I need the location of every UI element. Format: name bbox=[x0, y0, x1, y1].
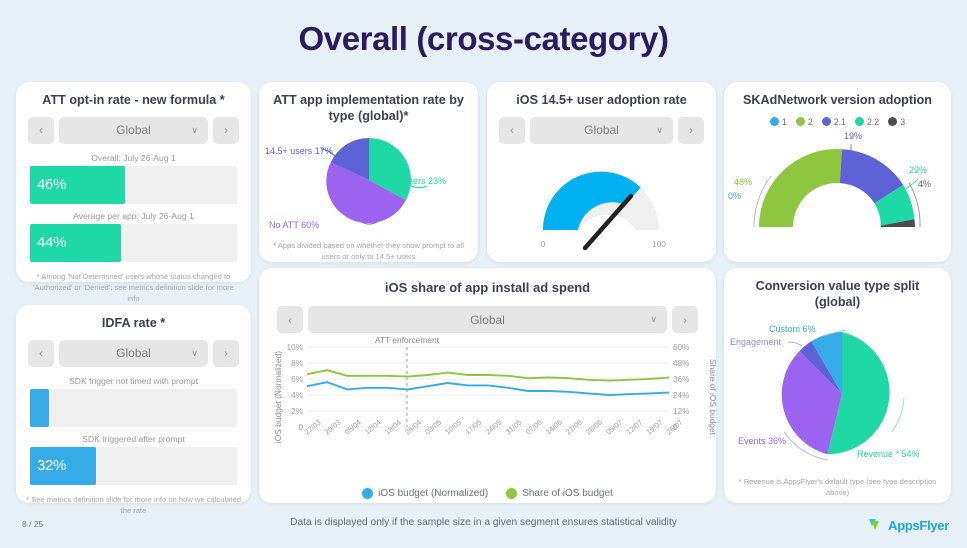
metric-bar-track bbox=[30, 389, 237, 427]
att-enforcement-annotation: ATT enforcement bbox=[375, 335, 440, 345]
segment-dropdown[interactable]: Global ∨ bbox=[59, 340, 208, 367]
segment-value: Global bbox=[116, 123, 151, 137]
segment-value: Global bbox=[116, 346, 151, 360]
svg-text:07/06: 07/06 bbox=[524, 418, 544, 437]
y-axis-label-left: iOS budget (Normalized) bbox=[273, 351, 283, 443]
svg-text:05/07: 05/07 bbox=[604, 418, 624, 437]
att-implementation-pie-chart: All users 23% No ATT 60% 14.5+ users 17% bbox=[259, 128, 478, 236]
pie-label-events: Events 36% bbox=[738, 436, 786, 446]
segment-selector[interactable]: ‹ Global ∨ › bbox=[487, 113, 716, 146]
legend-item: 1 bbox=[770, 117, 787, 127]
card-footnote: * Revenue is AppsFlyer's default type (s… bbox=[724, 474, 951, 506]
legend-label: 2.1 bbox=[834, 117, 846, 127]
metric-bar-fill: 32% bbox=[30, 447, 96, 485]
skadnetwork-legend: 1 2 2.1 2.2 3 bbox=[724, 113, 951, 127]
legend-label: Share of iOS budget bbox=[522, 488, 613, 499]
legend-label: 2.2 bbox=[867, 117, 879, 127]
legend-item: 2.1 bbox=[822, 117, 846, 127]
metric-bar-fill: 44% bbox=[30, 224, 121, 262]
legend-dot-icon bbox=[888, 117, 897, 126]
chevron-down-icon: ∨ bbox=[650, 314, 657, 325]
svg-text:4%: 4% bbox=[291, 391, 303, 400]
chevron-down-icon: ∨ bbox=[191, 125, 198, 136]
donut-label-v3: 4% bbox=[918, 179, 931, 189]
card-idfa-rate: IDFA rate * ‹ Global ∨ › SDK trigger not… bbox=[16, 305, 251, 503]
metric-bar-track: 32% bbox=[30, 447, 237, 485]
segment-selector[interactable]: ‹ Global ∨ › bbox=[16, 113, 251, 146]
metric-bar-fill: 46% bbox=[30, 166, 125, 204]
metric-bar-track: 44% bbox=[30, 224, 237, 262]
segment-selector[interactable]: ‹ Global ∨ › bbox=[16, 336, 251, 369]
card-att-opt-in-rate: ATT opt-in rate - new formula * ‹ Global… bbox=[16, 82, 251, 282]
segment-dropdown[interactable]: Global ∨ bbox=[308, 306, 667, 333]
svg-text:29/03: 29/03 bbox=[323, 418, 343, 437]
pie-label-145-users: 14.5+ users 17% bbox=[265, 146, 333, 156]
segment-value: Global bbox=[584, 123, 619, 137]
card-ios-share-ad-spend: iOS share of app install ad spend ‹ Glob… bbox=[259, 268, 716, 503]
metric-value: 32% bbox=[30, 457, 66, 474]
svg-text:8%: 8% bbox=[291, 359, 303, 368]
card-ios-adoption-rate: iOS 14.5+ user adoption rate ‹ Global ∨ … bbox=[487, 82, 716, 262]
appsflyer-mark-icon bbox=[867, 516, 885, 534]
legend-item: 3 bbox=[888, 117, 905, 127]
card-conversion-value-split: Conversion value type split (global) Cus… bbox=[724, 268, 951, 503]
svg-text:12%: 12% bbox=[673, 407, 689, 416]
line-chart-svg: 10% 8% 6% 4% 2% 0 60% 48% 36% 24% 12% 0 … bbox=[259, 335, 716, 485]
ad-spend-legend: iOS budget (Normalized) Share of iOS bud… bbox=[259, 484, 716, 499]
footer: 8 / 25 Data is displayed only if the sam… bbox=[0, 506, 967, 548]
svg-text:36%: 36% bbox=[673, 375, 689, 384]
card-att-implementation: ATT app implementation rate by type (glo… bbox=[259, 82, 478, 262]
svg-text:2%: 2% bbox=[291, 407, 303, 416]
metric-label: Overall: July 26-Aug 1 bbox=[16, 153, 251, 163]
legend-label: 3 bbox=[900, 117, 905, 127]
prev-button[interactable]: ‹ bbox=[28, 340, 54, 367]
svg-text:19/04: 19/04 bbox=[383, 418, 403, 437]
svg-text:10/05: 10/05 bbox=[443, 418, 463, 437]
gauge-svg: 0 100 bbox=[487, 152, 716, 252]
prev-button[interactable]: ‹ bbox=[277, 306, 303, 333]
chevron-down-icon: ∨ bbox=[191, 348, 198, 359]
next-button[interactable]: › bbox=[213, 340, 239, 367]
svg-text:03/05: 03/05 bbox=[423, 418, 443, 437]
svg-text:14/06: 14/06 bbox=[544, 418, 564, 437]
metric-bar-track: 46% bbox=[30, 166, 237, 204]
metric-bar-fill bbox=[30, 389, 49, 427]
card-footnote: * Apps divided based on whether they sho… bbox=[259, 236, 478, 270]
legend-dot-icon bbox=[770, 117, 779, 126]
next-button[interactable]: › bbox=[678, 117, 704, 144]
legend-label: 2 bbox=[808, 117, 813, 127]
page-title: Overall (cross-category) bbox=[0, 0, 967, 57]
svg-text:6%: 6% bbox=[291, 375, 303, 384]
svg-text:24%: 24% bbox=[673, 391, 689, 400]
legend-item: 2.2 bbox=[855, 117, 879, 127]
prev-button[interactable]: ‹ bbox=[499, 117, 525, 144]
donut-label-v2: 48% bbox=[734, 177, 752, 187]
svg-text:21/06: 21/06 bbox=[564, 418, 584, 437]
svg-text:48%: 48% bbox=[673, 359, 689, 368]
svg-text:60%: 60% bbox=[673, 343, 689, 352]
pie-label-engagement: Engagement bbox=[730, 337, 781, 347]
next-button[interactable]: › bbox=[672, 306, 698, 333]
donut-label-v22: 29% bbox=[909, 165, 927, 175]
card-title: ATT app implementation rate by type (glo… bbox=[259, 82, 478, 128]
ad-spend-line-chart: iOS budget (Normalized) Share of iOS bud… bbox=[259, 335, 716, 485]
card-skadnetwork-adoption: SKAdNetwork version adoption 1 2 2.1 2.2… bbox=[724, 82, 951, 262]
pie-label-custom: Custom 6% bbox=[769, 324, 816, 334]
y-axis-label-right: Share of iOS budget bbox=[708, 359, 718, 435]
svg-text:26/07: 26/07 bbox=[665, 418, 685, 437]
legend-item: iOS budget (Normalized) bbox=[362, 488, 488, 499]
brand-text: AppsFlyer bbox=[888, 518, 949, 533]
pie-label-no-att: No ATT 60% bbox=[269, 220, 319, 230]
svg-text:05/04: 05/04 bbox=[343, 418, 363, 437]
ios-adoption-gauge: 0 100 bbox=[487, 152, 716, 252]
appsflyer-logo: AppsFlyer bbox=[867, 516, 949, 534]
gauge-max-tick: 100 bbox=[652, 240, 666, 249]
card-title: Conversion value type split (global) bbox=[724, 268, 951, 314]
pie-label-revenue: Revenue * 54% bbox=[857, 449, 920, 459]
svg-text:19/07: 19/07 bbox=[644, 418, 664, 437]
legend-dot-icon bbox=[362, 488, 373, 499]
card-title: IDFA rate * bbox=[16, 305, 251, 336]
legend-label: iOS budget (Normalized) bbox=[378, 488, 488, 499]
card-title: SKAdNetwork version adoption bbox=[724, 82, 951, 113]
card-title: iOS share of app install ad spend bbox=[259, 268, 716, 300]
svg-text:10%: 10% bbox=[287, 343, 303, 352]
metric-label: Average per app: July 26-Aug 1 bbox=[16, 211, 251, 221]
chevron-down-icon: ∨ bbox=[656, 125, 663, 136]
donut-svg bbox=[724, 127, 951, 245]
conversion-value-pie-chart: Custom 6% Engagement Events 36% Revenue … bbox=[724, 314, 951, 474]
legend-label: 1 bbox=[782, 117, 787, 127]
legend-item: 2 bbox=[796, 117, 813, 127]
slide: Overall (cross-category) ATT opt-in rate… bbox=[0, 0, 967, 548]
gauge-min-tick: 0 bbox=[541, 240, 546, 249]
segment-dropdown[interactable]: Global ∨ bbox=[59, 117, 208, 144]
metric-value: 46% bbox=[30, 176, 66, 193]
svg-text:12/07: 12/07 bbox=[624, 418, 644, 437]
legend-dot-icon bbox=[796, 117, 805, 126]
footer-note: Data is displayed only if the sample siz… bbox=[0, 517, 967, 528]
legend-item: Share of iOS budget bbox=[506, 488, 613, 499]
card-title: iOS 14.5+ user adoption rate bbox=[487, 82, 716, 113]
svg-text:22/03: 22/03 bbox=[303, 418, 323, 437]
svg-text:24/05: 24/05 bbox=[484, 418, 504, 437]
pie-label-all-users: All users 23% bbox=[391, 176, 446, 186]
donut-label-v1: 0% bbox=[728, 191, 741, 201]
legend-dot-icon bbox=[855, 117, 864, 126]
donut-label-v21: 19% bbox=[844, 131, 862, 141]
card-title: ATT opt-in rate - new formula * bbox=[16, 82, 251, 113]
next-button[interactable]: › bbox=[213, 117, 239, 144]
svg-text:26/04: 26/04 bbox=[403, 418, 423, 437]
svg-text:17/05: 17/05 bbox=[463, 418, 483, 437]
metric-label: SDK trigger not timed with prompt bbox=[16, 376, 251, 386]
skadnetwork-half-donut: 48% 0% 19% 29% 4% bbox=[724, 127, 951, 245]
segment-selector[interactable]: ‹ Global ∨ › bbox=[259, 300, 716, 333]
segment-dropdown[interactable]: Global ∨ bbox=[530, 117, 673, 144]
legend-dot-icon bbox=[822, 117, 831, 126]
svg-text:28/06: 28/06 bbox=[584, 418, 604, 437]
legend-dot-icon bbox=[506, 488, 517, 499]
svg-text:31/05: 31/05 bbox=[504, 418, 524, 437]
svg-text:12/04: 12/04 bbox=[363, 418, 383, 437]
prev-button[interactable]: ‹ bbox=[28, 117, 54, 144]
metric-value: 44% bbox=[30, 234, 66, 251]
segment-value: Global bbox=[470, 313, 505, 327]
metric-label: SDK triggered after prompt bbox=[16, 434, 251, 444]
